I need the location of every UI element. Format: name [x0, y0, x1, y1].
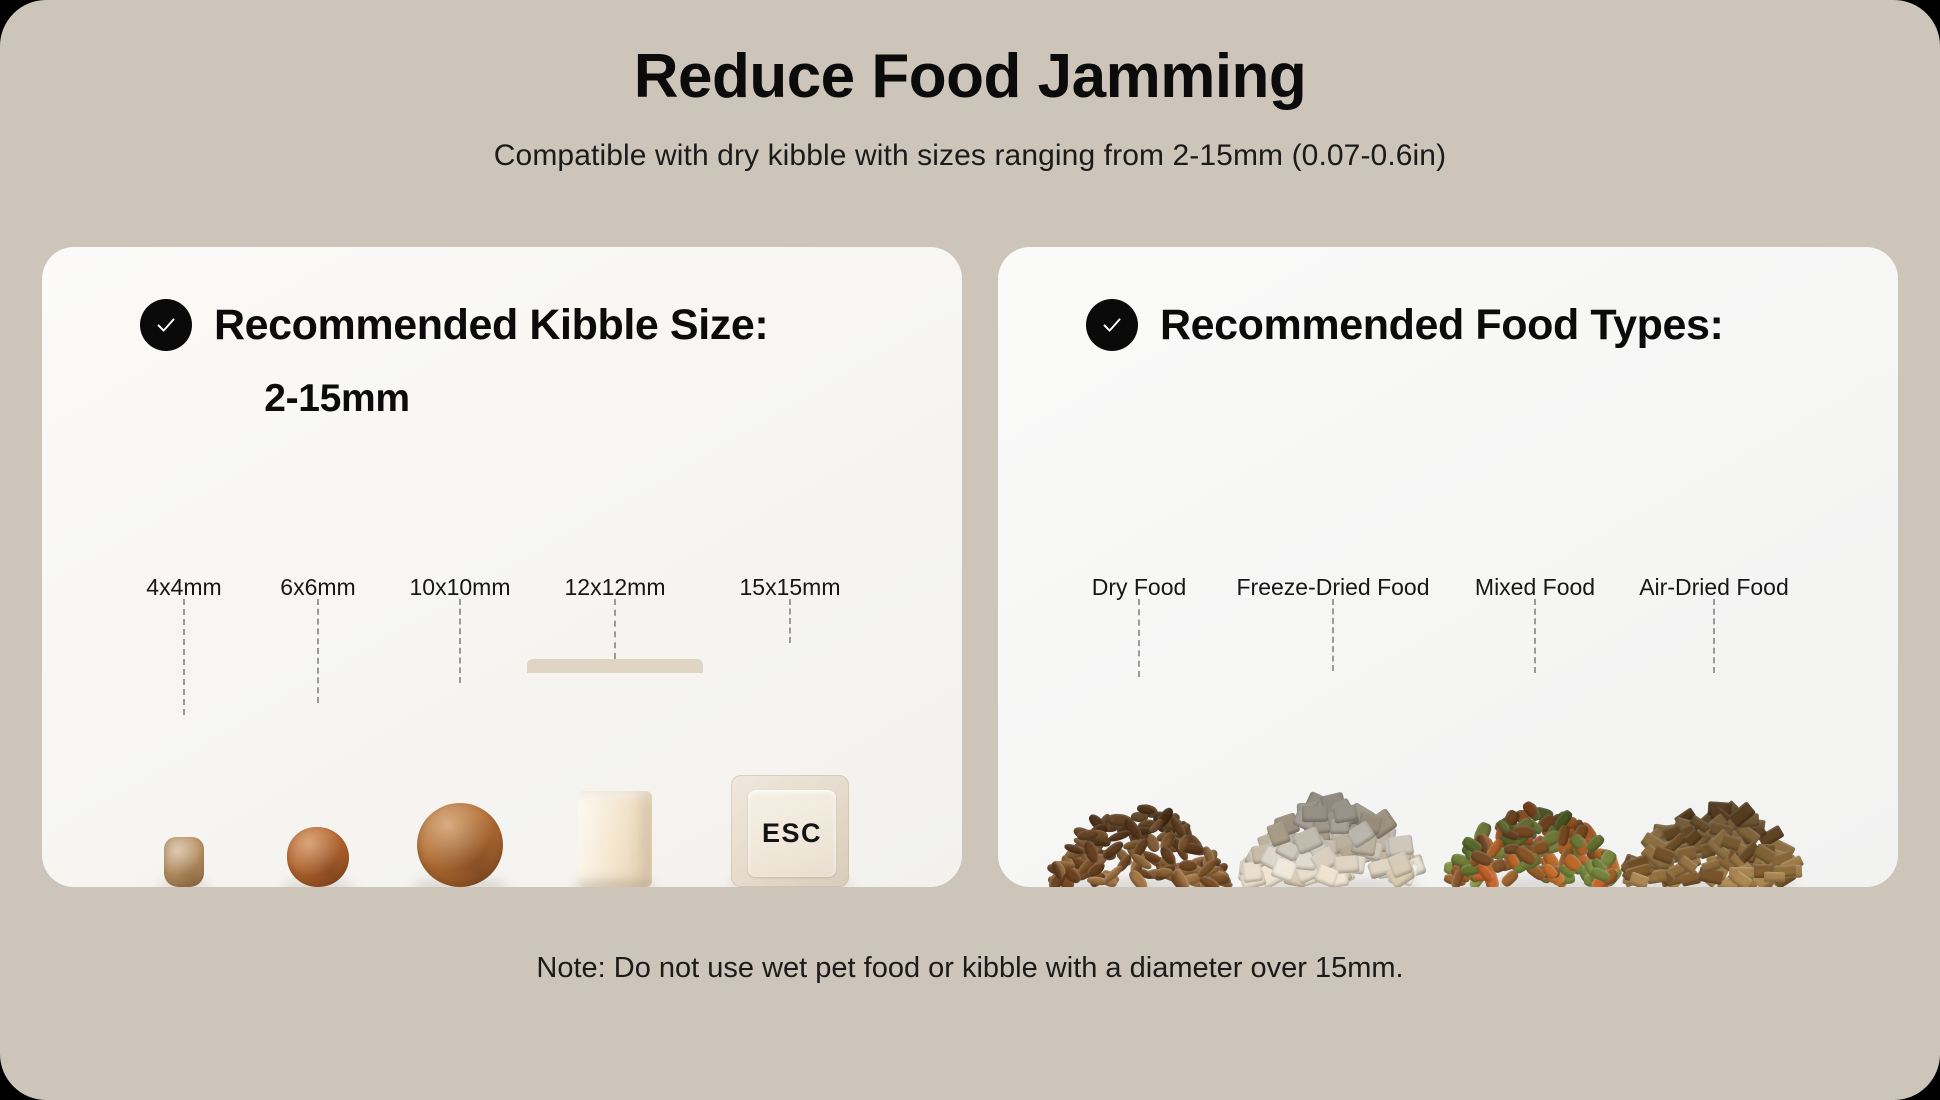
food-pile — [1624, 809, 1804, 887]
card-recommended-kibble-size: Recommended Kibble Size: 2-15mm 4x4mm 6x… — [42, 247, 962, 887]
food-pile — [1049, 809, 1229, 887]
card-title-food-types: Recommended Food Types: — [1160, 301, 1723, 350]
specimen-label: Freeze-Dried Food — [1208, 576, 1458, 599]
specimen-label: 10x10mm — [372, 576, 548, 599]
kibble-piece — [164, 837, 204, 887]
specimen-10x10mm: 10x10mm — [372, 576, 548, 887]
card-title-kibble-size: Recommended Kibble Size: — [214, 301, 768, 350]
food-piece — [1242, 861, 1263, 884]
kibble-specimen-row: 4x4mm 6x6mm — [42, 467, 962, 887]
specimen-label: Air-Dried Food — [1598, 576, 1830, 599]
kibble-piece — [287, 827, 349, 887]
page-header: Reduce Food Jamming Compatible with dry … — [0, 0, 1940, 173]
keycap-top-surface: ESC — [748, 790, 836, 877]
card-header-food-types: Recommended Food Types: — [998, 247, 1898, 351]
keycap-body: ESC — [731, 775, 849, 887]
freeze-dried-food-pile — [1208, 671, 1458, 887]
leader-line — [1138, 599, 1140, 677]
food-piece — [1764, 871, 1785, 882]
food-type-specimen-row: Dry Food Freeze-Dried Food — [998, 467, 1898, 887]
specimen-12x12mm: 12x12mm — [527, 576, 703, 887]
leader-line — [1534, 599, 1536, 673]
keycap-label: ESC — [762, 818, 822, 849]
specimen-label: 12x12mm — [527, 576, 703, 599]
check-circle-icon — [1086, 299, 1138, 351]
leader-line — [317, 599, 319, 703]
freeze-dried-cube — [527, 659, 703, 887]
cards-container: Recommended Kibble Size: 2-15mm 4x4mm 6x… — [42, 247, 1898, 887]
air-dried-food-pile — [1598, 673, 1830, 887]
card-header-kibble-size: Recommended Kibble Size: — [42, 247, 962, 351]
page-title: Reduce Food Jamming — [0, 0, 1940, 109]
kibble-large-round — [372, 683, 548, 887]
leader-line — [1332, 599, 1334, 671]
cube-piece — [578, 791, 652, 887]
check-circle-icon — [140, 299, 192, 351]
leader-line — [459, 599, 461, 683]
leader-line — [183, 599, 185, 715]
page-subtitle: Compatible with dry kibble with sizes ra… — [0, 109, 1940, 173]
leader-line — [614, 599, 616, 659]
leader-line — [1713, 599, 1715, 673]
specimen-label: 15x15mm — [692, 576, 888, 599]
specimen-freeze-dried-food: Freeze-Dried Food — [1208, 576, 1458, 887]
kibble-size-emphasis: 2-15mm — [42, 351, 962, 421]
food-piece — [1302, 806, 1328, 822]
footer-note: Note: Do not use wet pet food or kibble … — [0, 952, 1940, 985]
specimen-air-dried-food: Air-Dried Food — [1598, 576, 1830, 887]
leader-line — [789, 599, 791, 643]
specimen-15x15mm: 15x15mm ESC — [692, 576, 888, 887]
esc-keycap: ESC — [692, 643, 888, 887]
infographic-page: Reduce Food Jamming Compatible with dry … — [0, 0, 1940, 1100]
card-recommended-food-types: Recommended Food Types: Dry Food Freeze-… — [998, 247, 1898, 887]
kibble-piece — [417, 803, 503, 887]
drop-shadow — [573, 879, 657, 887]
food-pile — [1243, 809, 1423, 887]
